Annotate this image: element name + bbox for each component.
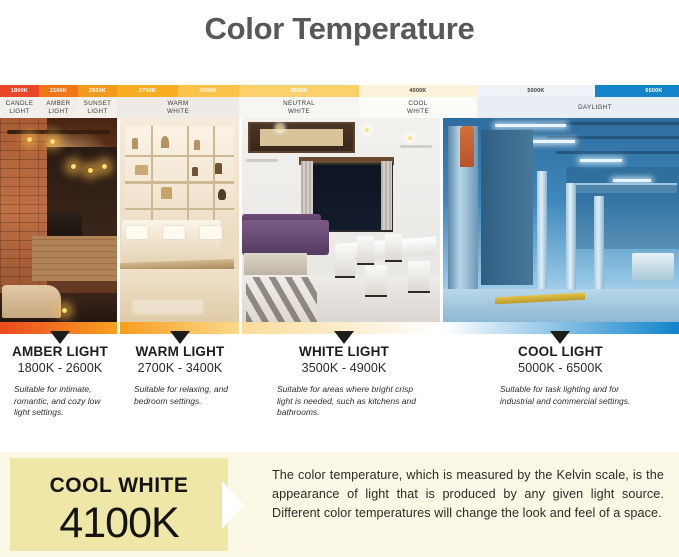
kelvin-segment: 2700K3000KWARMWHITE: [117, 85, 239, 118]
kelvin-segment: 1800KCANDLELIGHT: [0, 85, 39, 118]
kelvin-value: 2500K: [78, 85, 117, 97]
kelvin-label: WARMWHITE: [117, 97, 239, 118]
kelvin-label: COOLWHITE: [359, 97, 477, 118]
badge-label: COOL WHITE: [10, 474, 228, 498]
category-kelvin-range: 2700K - 3400K: [120, 360, 240, 377]
truck: [632, 253, 674, 282]
light-tube-icon: [580, 159, 622, 162]
kelvin-value: 1800K: [0, 85, 39, 97]
dining-chair: [365, 265, 387, 297]
kelvin-value: 2700K: [117, 85, 178, 97]
patterned-rug: [246, 277, 317, 322]
ceiling-fan: [400, 145, 432, 148]
summary-paragraph: The color temperature, which is measured…: [272, 466, 664, 523]
roof-beam: [547, 136, 679, 139]
category-kelvin-range: 3500K - 4900K: [243, 360, 445, 377]
decor-object: [161, 136, 169, 148]
category-title: COOL LIGHT: [446, 344, 675, 360]
badge-kelvin-value: 4100K: [10, 498, 228, 548]
cool-white-badge: COOL WHITE 4100K: [10, 458, 228, 551]
room-photo-row: [0, 118, 679, 322]
support-column: [566, 183, 576, 293]
curtain: [381, 161, 393, 230]
candle-glow-icon: [61, 307, 68, 314]
room-photo-warm: [120, 118, 238, 322]
category-description: Suitable for intimate, romantic, and coz…: [14, 384, 118, 419]
category-title: AMBER LIGHT: [0, 344, 120, 360]
cushion: [126, 226, 148, 239]
decor-object: [194, 140, 200, 150]
kelvin-segment: 2100KAMBERLIGHT: [39, 85, 78, 118]
category-caption: AMBER LIGHT1800K - 2600KSuitable for int…: [0, 344, 120, 419]
pendant-bulb-icon: [87, 167, 94, 174]
decor-object: [161, 187, 172, 199]
kelvin-segment: 5000K6500KDAYLIGHT: [477, 85, 679, 118]
ceiling-panel: [248, 122, 355, 153]
shelf: [125, 208, 234, 211]
ceiling-fan: [246, 159, 278, 162]
kelvin-label: SUNSETLIGHT: [78, 97, 117, 118]
category-arrow-icon: [334, 331, 354, 344]
shelf-divider: [151, 126, 153, 220]
floor-reflection: [132, 300, 203, 314]
dining-chair: [335, 244, 355, 278]
orange-duct: [460, 126, 474, 167]
summary-panel: COOL WHITE 4100K The color temperature, …: [0, 452, 679, 557]
kelvin-label: AMBERLIGHT: [39, 97, 78, 118]
kelvin-value: 2100K: [39, 85, 78, 97]
decor-object: [215, 163, 222, 174]
category-arrow-icon: [170, 331, 190, 344]
kelvin-label: NEUTRALWHITE: [239, 97, 359, 118]
category-pointer-arrows: [0, 331, 679, 345]
support-column: [537, 171, 547, 293]
decor-object: [218, 189, 226, 200]
kelvin-scale-strip: 1800KCANDLELIGHT2100KAMBERLIGHT2500KSUNS…: [0, 85, 679, 118]
kelvin-value: 3000K: [178, 85, 239, 97]
kelvin-value: 4000K: [359, 85, 477, 97]
chevron-right-icon: [222, 481, 244, 529]
cushion: [200, 226, 222, 239]
coffee-table: [244, 253, 307, 275]
kelvin-segment: 4000KCOOLWHITE: [359, 85, 477, 118]
downlight-icon: [365, 128, 369, 132]
room-photo-amber: [0, 118, 117, 322]
kelvin-segment: 2500KSUNSETLIGHT: [78, 85, 117, 118]
mezzanine: [573, 183, 677, 193]
shelf: [125, 155, 234, 158]
cushion: [163, 226, 185, 239]
purple-sofa: [242, 220, 329, 255]
shelf: [125, 181, 234, 184]
category-arrow-icon: [550, 331, 570, 344]
shelf-divider: [187, 126, 189, 220]
infographic-root: Color Temperature 1800KCANDLELIGHT2100KA…: [0, 0, 679, 557]
category-title: WHITE LIGHT: [243, 344, 445, 360]
marble-floor: [120, 269, 238, 322]
ceiling-track: [7, 130, 110, 134]
kelvin-value: 6500K: [595, 85, 679, 97]
dining-chair: [385, 234, 402, 262]
room-photo-white: [242, 118, 440, 322]
downlight-icon: [278, 126, 282, 130]
category-description: Suitable for task lighting and for indus…: [500, 384, 640, 407]
room-photo-cool: [443, 118, 679, 322]
downlight-icon: [408, 136, 412, 140]
category-kelvin-range: 5000K - 6500K: [446, 360, 675, 377]
roof-beam: [556, 151, 679, 154]
light-tube-icon: [495, 124, 566, 127]
ceiling-inlay: [260, 129, 342, 146]
dining-chair: [408, 261, 430, 293]
category-arrow-icon: [50, 331, 70, 344]
kelvin-label: CANDLELIGHT: [0, 97, 39, 118]
kelvin-value: 5000K: [477, 85, 595, 97]
pendant-bulb-icon: [49, 138, 56, 145]
category-caption: WHITE LIGHT3500K - 4900KSuitable for are…: [243, 344, 445, 419]
pendant-bulb-icon: [101, 163, 108, 170]
light-tube-icon: [613, 179, 651, 182]
category-captions: AMBER LIGHT1800K - 2600KSuitable for int…: [0, 344, 679, 440]
category-caption: WARM LIGHT2700K - 3400KSuitable for rela…: [120, 344, 240, 407]
page-title: Color Temperature: [0, 0, 679, 58]
category-description: Suitable for relaxing, and bedroom setti…: [134, 384, 238, 407]
kelvin-value: 3500K: [239, 85, 359, 97]
decor-object: [192, 167, 198, 176]
kelvin-segment: 3500KNEUTRALWHITE: [239, 85, 359, 118]
dining-chair: [357, 236, 374, 265]
category-caption: COOL LIGHT5000K - 6500KSuitable for task…: [446, 344, 675, 407]
bench-seat: [2, 285, 61, 318]
support-column: [594, 196, 604, 294]
warehouse-wall: [481, 130, 533, 285]
wood-counter: [32, 236, 118, 281]
kelvin-label: DAYLIGHT: [477, 97, 679, 118]
category-kelvin-range: 1800K - 2600K: [0, 360, 120, 377]
decor-object: [132, 138, 138, 149]
category-description: Suitable for areas where bright crisp li…: [277, 384, 427, 419]
decor-object: [135, 165, 148, 175]
category-title: WARM LIGHT: [120, 344, 240, 360]
